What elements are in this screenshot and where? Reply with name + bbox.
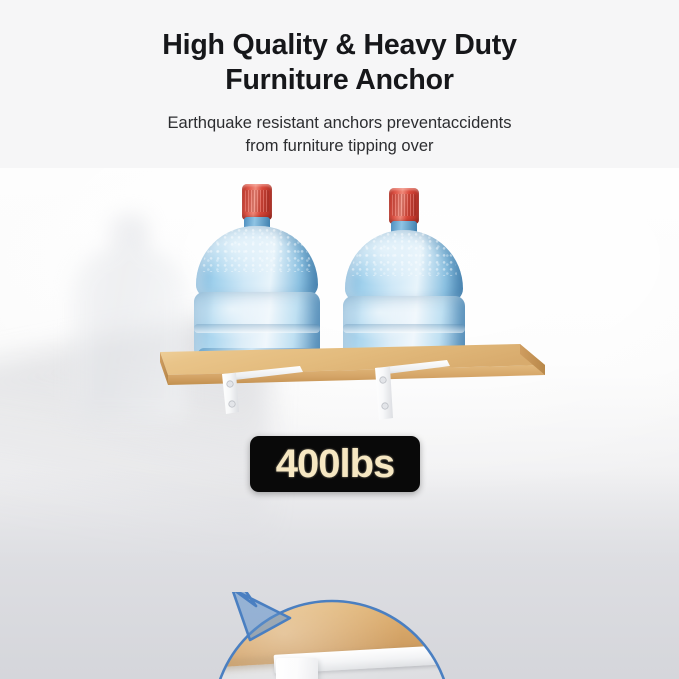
product-marketing-image: High Quality & Heavy Duty Furniture Anch… [0, 0, 679, 679]
bracket-right-screw-bottom [382, 403, 388, 409]
ghost-bottle-body [72, 248, 186, 420]
weight-capacity-label: 400lbs [276, 444, 395, 484]
bracket-left-leg [222, 373, 239, 414]
bottle-cap-right [389, 188, 419, 224]
water-bottle-left [192, 184, 322, 364]
page-title: High Quality & Heavy Duty Furniture Anch… [0, 28, 679, 98]
bracket-left-arm [222, 366, 303, 381]
bracket-left-screw-bottom [229, 401, 235, 407]
bottle-base-left [198, 348, 316, 364]
bottle-groove-left [194, 324, 320, 333]
ghost-bottle-shadow [68, 206, 190, 421]
bracket-left-screw-top [227, 381, 233, 387]
bracket-right-screw-top [380, 377, 386, 383]
page-subtitle: Earthquake resistant anchors preventacci… [0, 112, 679, 158]
bracket-right-leg [375, 367, 393, 420]
headline-line-1: High Quality & Heavy Duty [162, 29, 517, 61]
product-scene: 400lbs [0, 168, 679, 679]
bottle-cap-left [242, 184, 272, 220]
headline-line-2: Furniture Anchor [0, 63, 679, 98]
bottle-shoulder-left [196, 226, 318, 298]
water-bottle-right [341, 188, 467, 364]
magnifier-pointer [220, 592, 290, 640]
shelf-right-edge [520, 344, 545, 375]
magnifier-outline [204, 592, 460, 679]
shelf-front-edge [168, 365, 545, 385]
subhead-line-1: Earthquake resistant anchors preventacci… [168, 114, 512, 132]
weight-capacity-badge: 400lbs [250, 436, 420, 492]
bottle-shoulder-right [345, 230, 463, 302]
bottle-groove-right [343, 324, 465, 333]
bottle-base-right [347, 348, 461, 364]
subhead-line-2: from furniture tipping over [0, 135, 679, 158]
magnified-bracket-callout [204, 592, 460, 679]
